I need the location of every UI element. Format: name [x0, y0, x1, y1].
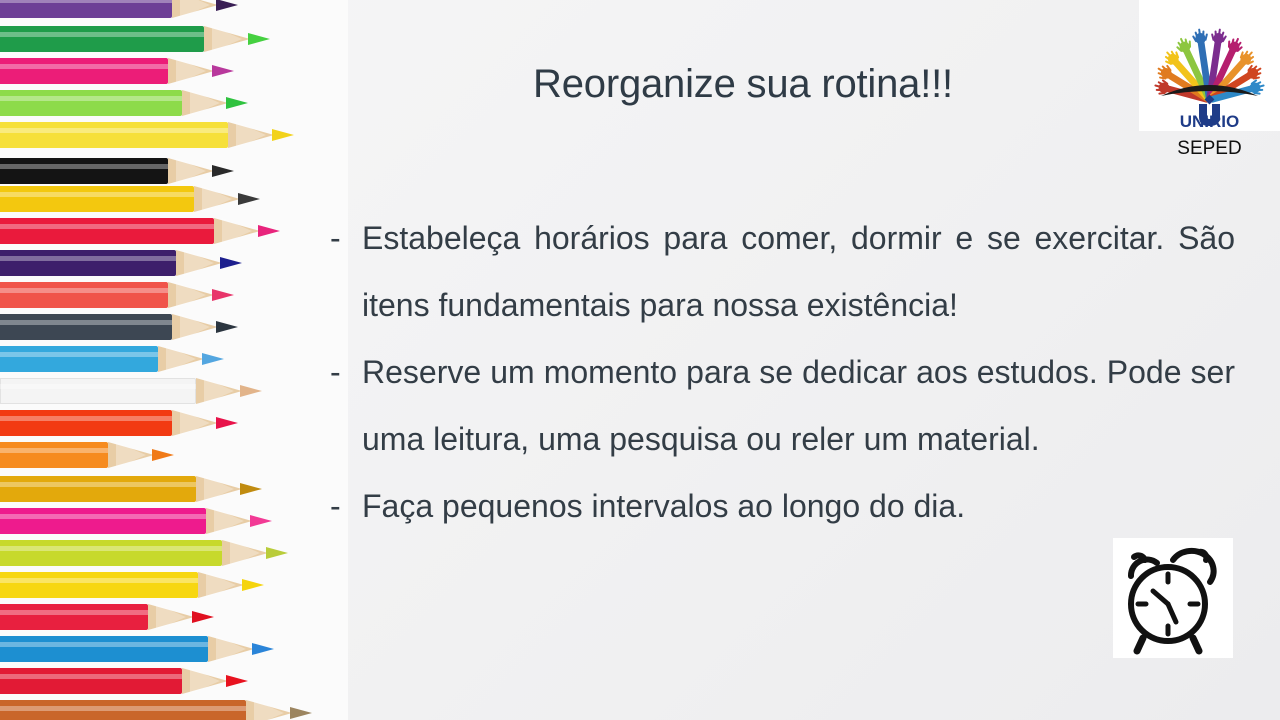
bullet-text: Estabeleça horários para comer, dormir e…: [362, 205, 1235, 339]
pencil-barrel: [0, 250, 176, 276]
list-item: - Estabeleça horários para comer, dormir…: [330, 205, 1235, 339]
pencil-lead: [242, 579, 264, 591]
pencil-wood-highlight: [204, 378, 234, 404]
pencil-barrel: [0, 572, 198, 598]
pencil-barrel: [0, 410, 172, 436]
pencil-lead: [258, 225, 280, 237]
pencil-wood-highlight: [190, 90, 220, 116]
pencil-barrel: [0, 218, 214, 244]
pencil-lead: [240, 483, 262, 495]
bullet-list: - Estabeleça horários para comer, dormir…: [330, 205, 1235, 540]
pencil-barrel: [0, 508, 206, 534]
unirio-logo-graphic: UNIRIO: [1139, 0, 1280, 131]
pencil-barrel: [0, 668, 182, 694]
pencil-lead: [220, 257, 242, 269]
pencil-lead: [202, 353, 224, 365]
list-item: - Reserve um momento para se dedicar aos…: [330, 339, 1235, 473]
pencil-wood-highlight: [180, 314, 210, 340]
pencil-wood-highlight: [222, 218, 252, 244]
pencil-wood-highlight: [202, 186, 232, 212]
pencil-barrel: [0, 476, 196, 502]
pencil-wood-highlight: [236, 122, 266, 148]
pencil-barrel: [0, 186, 194, 212]
pencil-lead: [252, 643, 274, 655]
pencil-barrel: [0, 58, 168, 84]
pencil-wood-highlight: [116, 442, 146, 468]
pencil-lead: [216, 417, 238, 429]
list-item: - Faça pequenos intervalos ao longo do d…: [330, 473, 1235, 540]
bullet-marker: -: [330, 473, 362, 540]
pencil-lead: [192, 611, 214, 623]
pencil-lead: [152, 449, 174, 461]
pencil-barrel: [0, 700, 246, 720]
pencil-wood-highlight: [216, 636, 246, 662]
unirio-logo: UNIRIO: [1139, 0, 1280, 131]
pencil-barrel: [0, 540, 222, 566]
pencil-barrel: [0, 282, 168, 308]
pencil-lead: [272, 129, 294, 141]
pencil-lead: [250, 515, 272, 527]
pencil-barrel: [0, 90, 182, 116]
pencil-lead: [266, 547, 288, 559]
pencil-barrel: [0, 346, 158, 372]
pencil-wood-highlight: [156, 604, 186, 630]
pencil-lead: [216, 0, 238, 11]
pencil-lead: [212, 165, 234, 177]
pencil-wood-highlight: [184, 250, 214, 276]
pencil-wood-highlight: [214, 508, 244, 534]
pencil-barrel: [0, 442, 108, 468]
pencil-barrel: [0, 0, 172, 18]
pencil-wood-highlight: [206, 572, 236, 598]
pencil-lead: [226, 97, 248, 109]
pencil-lead: [240, 385, 262, 397]
alarm-clock-graphic: [1113, 538, 1233, 658]
pencil-lead: [290, 707, 312, 719]
seped-caption: SEPED: [1139, 138, 1280, 160]
pencil-lead: [212, 65, 234, 77]
pencil-wood-highlight: [254, 700, 284, 720]
pencil-barrel: [0, 122, 228, 148]
bullet-text: Reserve um momento para se dedicar aos e…: [362, 339, 1235, 473]
pencil-wood-highlight: [176, 158, 206, 184]
pencil-wood-highlight: [180, 410, 210, 436]
pencil-lead: [216, 321, 238, 333]
pencil-barrel: [0, 604, 148, 630]
pencil-wood-highlight: [204, 476, 234, 502]
pencil-barrel: [0, 378, 196, 404]
pencil-wood-highlight: [212, 26, 242, 52]
pencil-lead: [212, 289, 234, 301]
page-title: Reorganize sua rotina!!!: [348, 62, 1138, 107]
unirio-wordmark: UNIRIO: [1180, 112, 1240, 131]
pencil-wood-highlight: [190, 668, 220, 694]
pencil-barrel: [0, 314, 172, 340]
pencil-wood-highlight: [176, 58, 206, 84]
bullet-text: Faça pequenos intervalos ao longo do dia…: [362, 473, 1235, 540]
alarm-clock-icon: [1113, 538, 1233, 658]
pencil-lead: [238, 193, 260, 205]
colored-pencils-photo: [0, 0, 348, 720]
slide-canvas: Reorganize sua rotina!!! - Estabeleça ho…: [0, 0, 1280, 720]
pencil-barrel: [0, 636, 208, 662]
pencil-barrel: [0, 158, 168, 184]
pencil-lead: [226, 675, 248, 687]
pencil-wood-highlight: [230, 540, 260, 566]
pencil-barrel: [0, 26, 204, 52]
pencil-lead: [248, 33, 270, 45]
pencil-wood-highlight: [176, 282, 206, 308]
bullet-marker: -: [330, 205, 362, 272]
pencil-wood-highlight: [180, 0, 210, 18]
bullet-marker: -: [330, 339, 362, 406]
pencil-wood-highlight: [166, 346, 196, 372]
